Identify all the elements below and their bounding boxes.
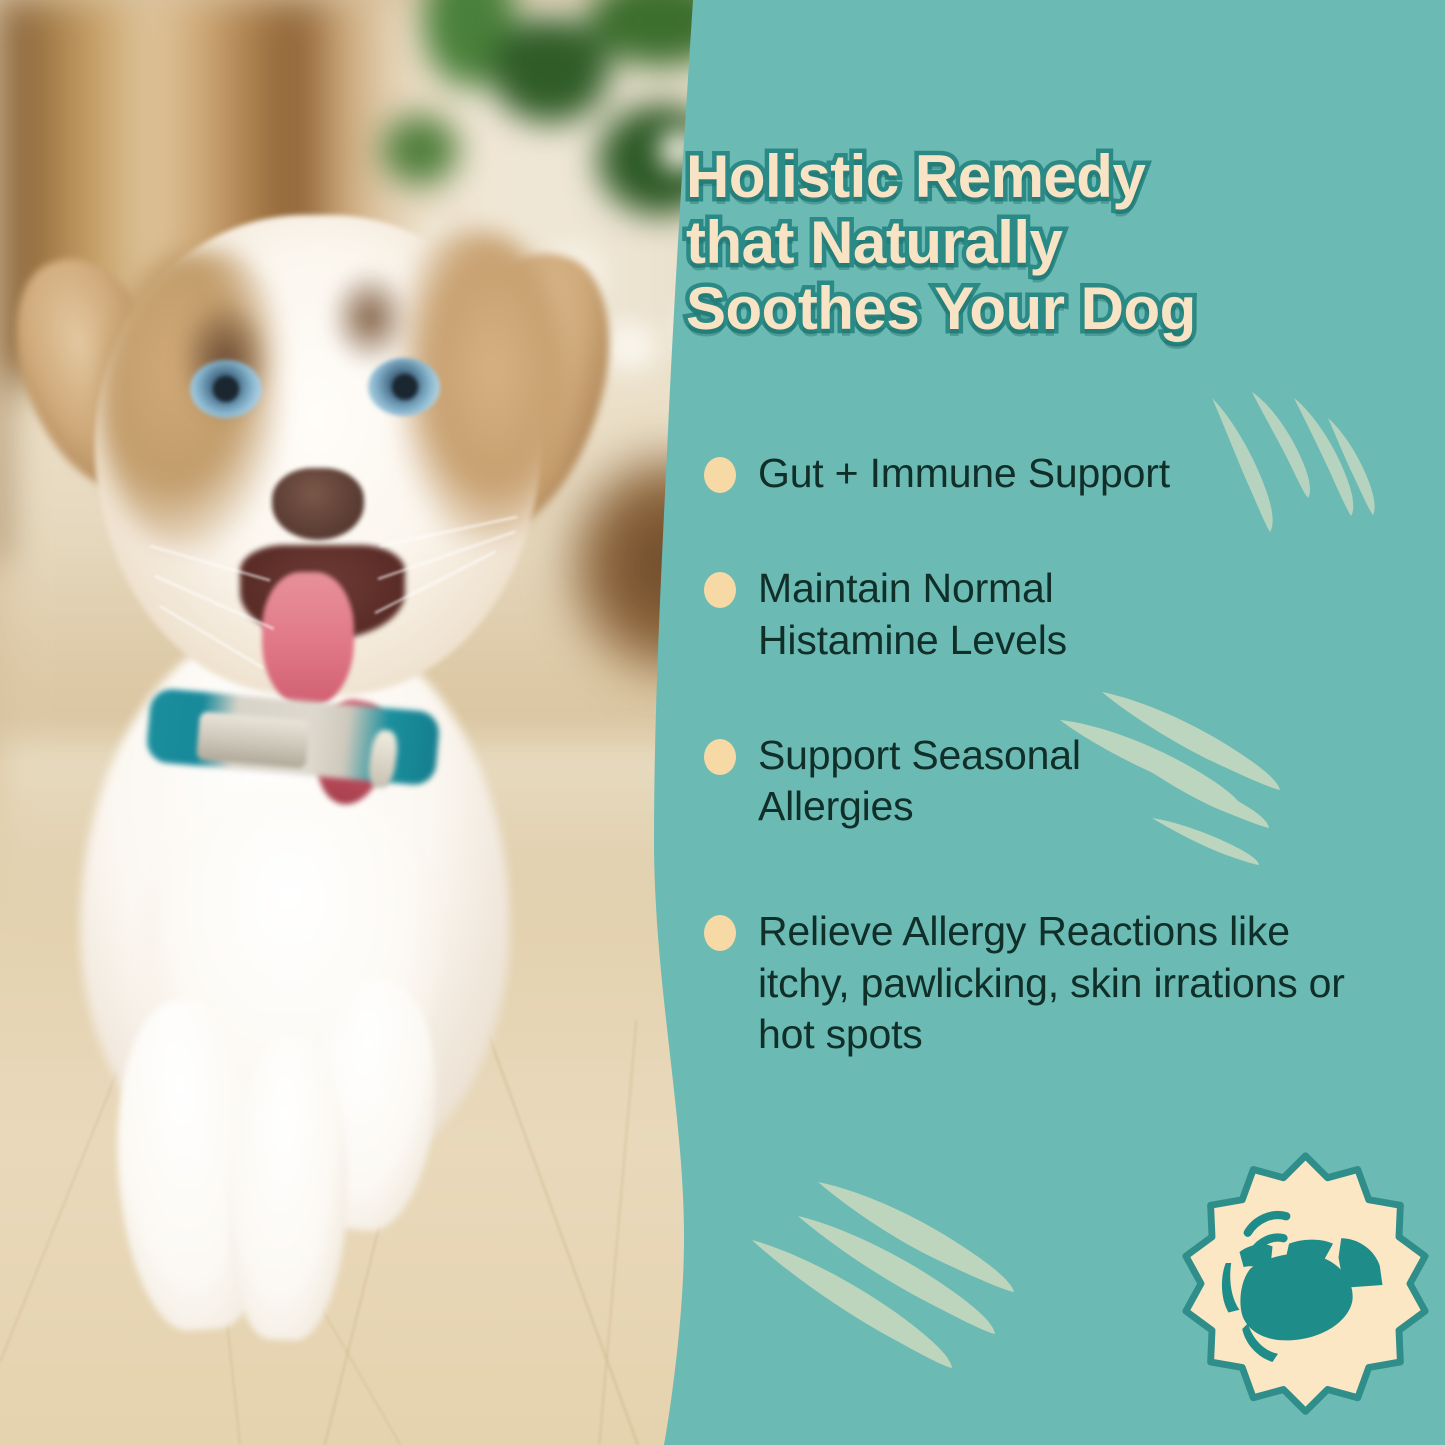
panel-content: Holistic Remedy that Naturally Soothes Y… <box>0 0 1445 1445</box>
list-item: Maintain Normal Histamine Levels <box>704 563 1434 666</box>
headline-line-3: Soothes Your Dog <box>686 276 1434 342</box>
list-item: Relieve Allergy Reactions like itchy, pa… <box>704 906 1434 1060</box>
bullet-dot-icon <box>704 915 736 951</box>
list-item: Gut + Immune Support <box>704 448 1434 499</box>
headline-line-1: Holistic Remedy <box>686 144 1434 210</box>
product-infographic: Holistic Remedy that Naturally Soothes Y… <box>0 0 1445 1445</box>
benefit-text: Gut + Immune Support <box>758 448 1170 499</box>
benefit-text: Maintain Normal Histamine Levels <box>758 563 1228 666</box>
benefit-text: Relieve Allergy Reactions like itchy, pa… <box>758 906 1383 1060</box>
dog-scratching-badge <box>1168 1145 1443 1425</box>
page-title: Holistic Remedy that Naturally Soothes Y… <box>686 144 1434 342</box>
bullet-dot-icon <box>704 457 736 493</box>
list-item: Support Seasonal Allergies <box>704 730 1434 833</box>
bullet-dot-icon <box>704 739 736 775</box>
benefits-list: Gut + Immune Support Maintain Normal His… <box>704 448 1434 1106</box>
bullet-dot-icon <box>704 572 736 608</box>
benefit-text: Support Seasonal Allergies <box>758 730 1228 833</box>
headline-line-2: that Naturally <box>686 210 1434 276</box>
